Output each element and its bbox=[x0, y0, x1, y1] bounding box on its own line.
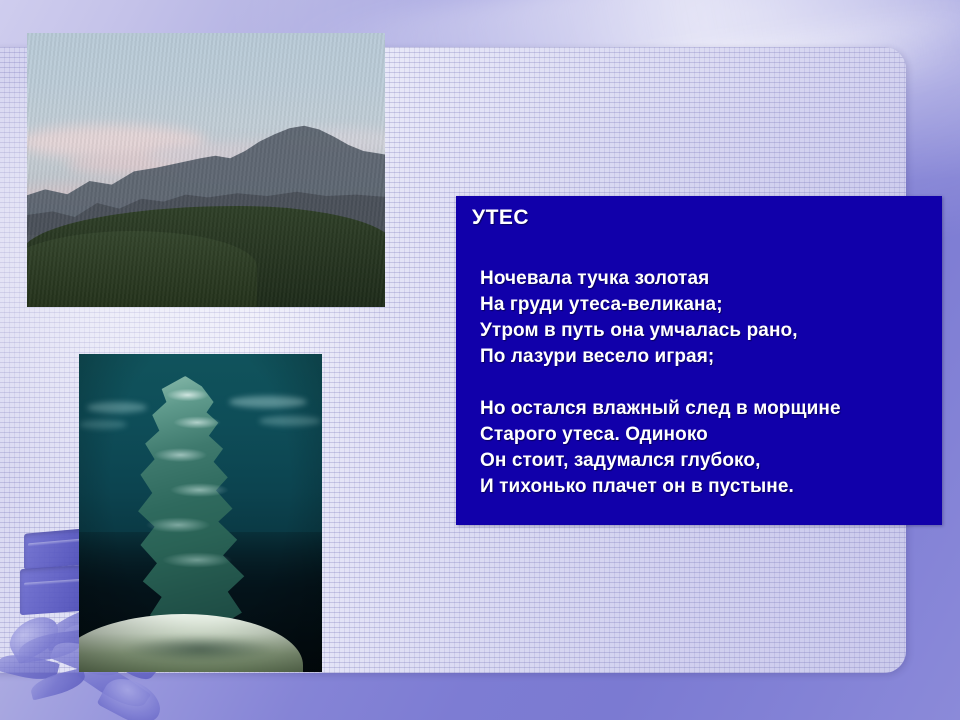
cloud-shape bbox=[229, 396, 307, 408]
poem-line: Он стоит, задумался глубоко, bbox=[480, 448, 932, 474]
poem-line: Старого утеса. Одиноко bbox=[480, 422, 932, 448]
presentation-slide: УТЕС Ночевала тучка золотаяНа груди утес… bbox=[0, 0, 960, 720]
poem-text-box: УТЕС Ночевала тучка золотаяНа груди утес… bbox=[456, 196, 942, 525]
poem-line: По лазури весело играя; bbox=[480, 344, 932, 370]
poem-line: Но остался влажный след в морщине bbox=[480, 396, 932, 422]
cloud-shape bbox=[259, 416, 321, 426]
foreground-vegetation-left bbox=[27, 231, 257, 307]
tree-shadow bbox=[125, 636, 275, 662]
petal-shape bbox=[97, 670, 168, 720]
poem-line: Утром в путь она умчалась рано, bbox=[480, 318, 932, 344]
snow-covered-pine-photo bbox=[79, 354, 322, 672]
poem-body: Ночевала тучка золотаяНа груди утеса-вел… bbox=[480, 266, 932, 500]
poem-line: На груди утеса-великана; bbox=[480, 292, 932, 318]
poem-content: УТЕС Ночевала тучка золотаяНа груди утес… bbox=[472, 204, 932, 500]
poem-line-spacer bbox=[480, 370, 932, 396]
poem-line: Ночевала тучка золотая bbox=[480, 266, 932, 292]
cloud-shape bbox=[79, 420, 127, 429]
poem-line: И тихонько плачет он в пустыне. bbox=[480, 474, 932, 500]
poem-title: УТЕС bbox=[472, 204, 932, 232]
cloud-shape bbox=[87, 402, 147, 413]
mountain-landscape-photo bbox=[27, 33, 385, 307]
